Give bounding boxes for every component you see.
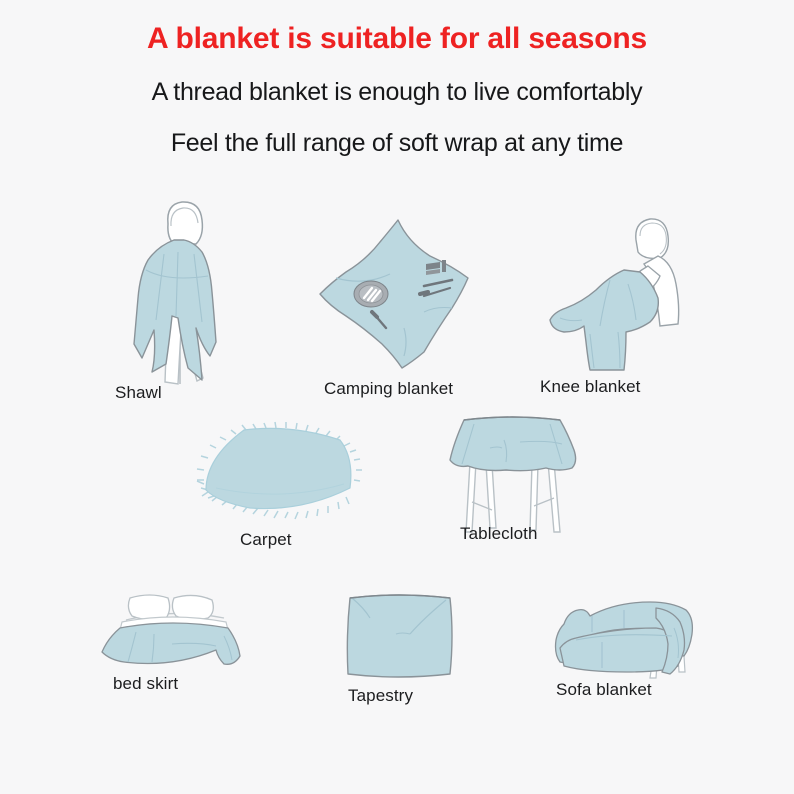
carpet-illustration — [192, 418, 362, 528]
subtitle-two: Feel the full range of soft wrap at any … — [0, 107, 794, 158]
label-tapestry: Tapestry — [348, 686, 413, 706]
bed-skirt-illustration — [88, 586, 258, 678]
label-tablecloth: Tablecloth — [460, 524, 538, 544]
use-case-tapestry: Tapestry — [340, 588, 460, 684]
page-title: A blanket is suitable for all seasons — [0, 0, 794, 56]
use-case-camping-blanket: Camping blanket — [312, 216, 484, 376]
sofa-blanket-illustration — [546, 592, 706, 684]
shawl-illustration — [108, 196, 268, 386]
label-sofa-blanket: Sofa blanket — [556, 680, 652, 700]
use-case-tablecloth: Tablecloth — [428, 406, 598, 546]
infographic-page: A blanket is suitable for all seasons A … — [0, 0, 794, 794]
knee-blanket-illustration — [540, 214, 720, 374]
tapestry-illustration — [340, 588, 460, 684]
heading-block: A blanket is suitable for all seasons A … — [0, 0, 794, 158]
label-shawl: Shawl — [115, 383, 162, 403]
use-case-shawl: Shawl — [108, 196, 268, 386]
use-case-carpet: Carpet — [192, 418, 362, 528]
subtitle-one: A thread blanket is enough to live comfo… — [0, 56, 794, 107]
label-carpet: Carpet — [240, 530, 292, 550]
use-case-sofa-blanket: Sofa blanket — [546, 592, 706, 684]
use-case-knee-blanket: Knee blanket — [540, 214, 720, 374]
use-case-bed-skirt: bed skirt — [88, 586, 258, 678]
label-bed-skirt: bed skirt — [113, 674, 178, 694]
camping-blanket-illustration — [312, 216, 484, 376]
label-knee-blanket: Knee blanket — [540, 377, 640, 397]
label-camping-blanket: Camping blanket — [324, 379, 453, 399]
